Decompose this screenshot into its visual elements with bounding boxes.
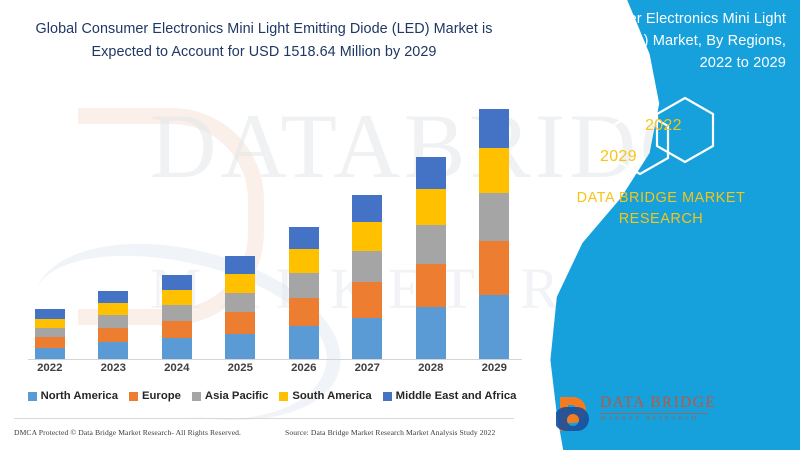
bar-segment bbox=[98, 315, 128, 327]
legend-label: Middle East and Africa bbox=[396, 390, 517, 402]
panel-title: Global Consumer Electronics Mini Light E… bbox=[504, 8, 786, 75]
bar-segment bbox=[98, 342, 128, 359]
legend-swatch-icon bbox=[279, 392, 288, 401]
bar-segment bbox=[352, 251, 382, 282]
legend-label: North America bbox=[41, 390, 118, 402]
legend-item[interactable]: Asia Pacific bbox=[192, 390, 268, 402]
bar-segment bbox=[289, 298, 319, 326]
footer-copyright: DMCA Protected © Data Bridge Market Rese… bbox=[14, 428, 241, 437]
stacked-bar-2022[interactable] bbox=[35, 309, 65, 359]
legend-swatch-icon bbox=[383, 392, 392, 401]
bar-slot bbox=[209, 110, 273, 359]
bar-segment bbox=[98, 303, 128, 315]
footer-divider bbox=[14, 418, 514, 419]
legend-swatch-icon bbox=[28, 392, 37, 401]
bar-group bbox=[18, 110, 526, 359]
bar-segment bbox=[98, 328, 128, 343]
stacked-bar-2025[interactable] bbox=[225, 256, 255, 359]
chart-legend: North AmericaEuropeAsia PacificSouth Ame… bbox=[18, 386, 526, 406]
bar-segment bbox=[289, 326, 319, 359]
legend-label: Asia Pacific bbox=[205, 390, 268, 402]
bar-segment bbox=[35, 328, 65, 337]
hexagon-2022-label: 2022 bbox=[645, 117, 682, 135]
dbmr-logo-main: DATA BRIDGE bbox=[600, 395, 716, 411]
infographic-root: DATABRIDGE MARKET RESEARCH Global Consum… bbox=[0, 0, 800, 450]
stacked-bar-2027[interactable] bbox=[352, 195, 382, 359]
plot-region bbox=[18, 110, 526, 360]
bar-segment bbox=[162, 305, 192, 321]
legend-item[interactable]: Middle East and Africa bbox=[383, 390, 517, 402]
bar-segment bbox=[98, 291, 128, 303]
stacked-bar-2023[interactable] bbox=[98, 291, 128, 359]
stacked-bar-2028[interactable] bbox=[416, 157, 446, 359]
bar-segment bbox=[35, 337, 65, 347]
bar-segment bbox=[225, 256, 255, 274]
footer-source: Source: Data Bridge Market Research Mark… bbox=[285, 428, 495, 437]
bar-segment bbox=[162, 275, 192, 290]
x-axis-line bbox=[28, 359, 522, 360]
dbmr-logo-mark-icon bbox=[556, 393, 598, 433]
stacked-bar-2024[interactable] bbox=[162, 275, 192, 359]
page-title: Global Consumer Electronics Mini Light E… bbox=[14, 18, 514, 64]
bar-segment bbox=[416, 307, 446, 359]
bar-segment bbox=[352, 282, 382, 317]
legend-label: Europe bbox=[142, 390, 181, 402]
bar-segment bbox=[35, 319, 65, 328]
bar-segment bbox=[479, 295, 509, 359]
bar-segment bbox=[416, 264, 446, 308]
x-tick-2025: 2025 bbox=[209, 362, 273, 382]
bar-segment bbox=[162, 321, 192, 339]
dbmr-logo[interactable]: DATA BRIDGE MARKET RESEARCH bbox=[556, 393, 736, 437]
bar-segment bbox=[352, 195, 382, 222]
x-tick-2029: 2029 bbox=[463, 362, 527, 382]
stacked-bar-2026[interactable] bbox=[289, 227, 319, 359]
legend-item[interactable]: South America bbox=[279, 390, 371, 402]
bar-segment bbox=[416, 157, 446, 189]
bar-slot bbox=[18, 110, 82, 359]
hexagon-2029-label: 2029 bbox=[600, 148, 637, 166]
x-tick-2023: 2023 bbox=[82, 362, 146, 382]
chart-area: DATABRIDGE MARKET RESEARCH Global Consum… bbox=[0, 0, 560, 450]
bar-segment bbox=[352, 318, 382, 359]
x-tick-2026: 2026 bbox=[272, 362, 336, 382]
bar-segment bbox=[289, 227, 319, 249]
bar-segment bbox=[225, 334, 255, 359]
bar-slot bbox=[336, 110, 400, 359]
bar-segment bbox=[352, 222, 382, 251]
bar-segment bbox=[35, 348, 65, 359]
bar-slot bbox=[272, 110, 336, 359]
legend-label: South America bbox=[292, 390, 371, 402]
x-tick-2022: 2022 bbox=[18, 362, 82, 382]
bar-slot bbox=[399, 110, 463, 359]
dbmr-logo-sub: MARKET RESEARCH bbox=[600, 416, 716, 422]
legend-item[interactable]: Europe bbox=[129, 390, 181, 402]
bar-segment bbox=[416, 189, 446, 225]
x-tick-2028: 2028 bbox=[399, 362, 463, 382]
bar-slot bbox=[145, 110, 209, 359]
legend-swatch-icon bbox=[192, 392, 201, 401]
bar-segment bbox=[162, 338, 192, 359]
bar-segment bbox=[225, 274, 255, 293]
bar-segment bbox=[289, 249, 319, 273]
dbmr-logo-text: DATA BRIDGE MARKET RESEARCH bbox=[600, 395, 716, 422]
x-tick-2024: 2024 bbox=[145, 362, 209, 382]
bar-segment bbox=[225, 293, 255, 313]
dbmr-logo-rule bbox=[600, 413, 708, 414]
brand-name: DATA BRIDGE MARKET RESEARCH bbox=[536, 188, 786, 230]
bar-segment bbox=[289, 273, 319, 298]
legend-swatch-icon bbox=[129, 392, 138, 401]
x-axis-labels: 20222023202420252026202720282029 bbox=[18, 362, 526, 382]
bar-segment bbox=[162, 290, 192, 306]
x-tick-2027: 2027 bbox=[336, 362, 400, 382]
bar-segment bbox=[225, 312, 255, 334]
bar-segment bbox=[416, 225, 446, 263]
bar-segment bbox=[479, 241, 509, 295]
legend-item[interactable]: North America bbox=[28, 390, 118, 402]
bar-slot bbox=[82, 110, 146, 359]
bar-segment bbox=[35, 309, 65, 318]
